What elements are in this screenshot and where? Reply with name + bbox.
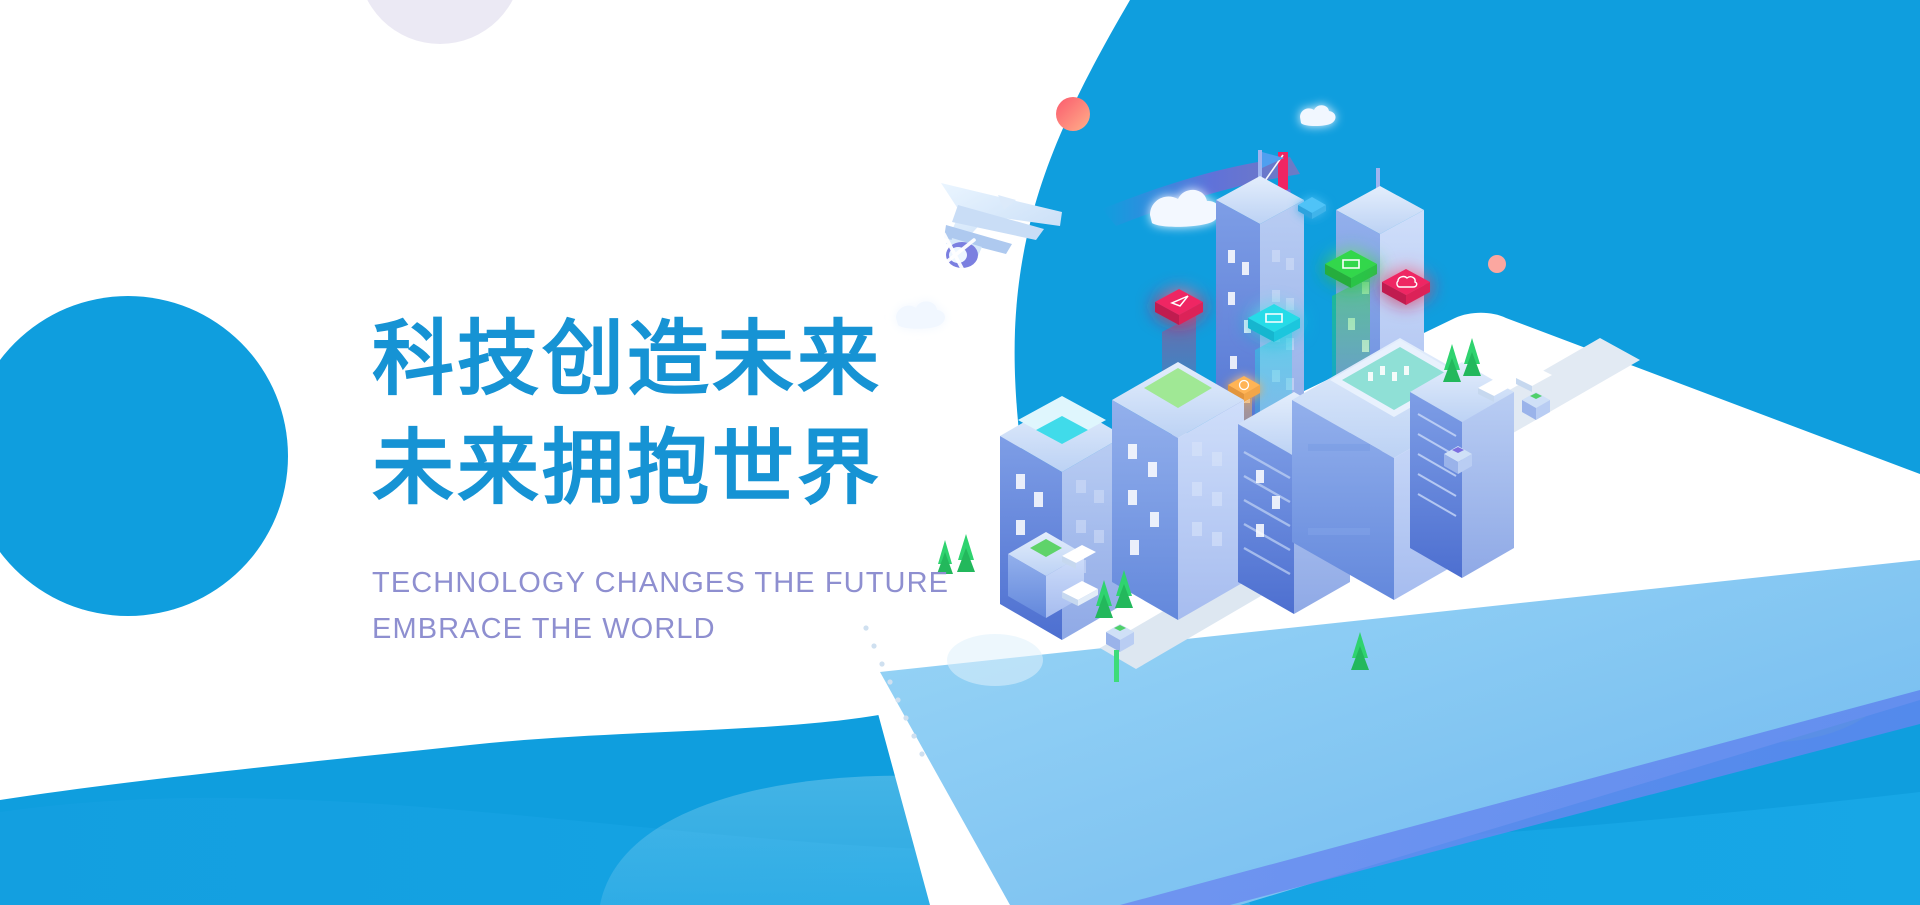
hero-copy: 科技创造未来 未来拥抱世界 TECHNOLOGY CHANGES THE FUT… <box>372 305 1052 653</box>
hero-banner: 科技创造未来 未来拥抱世界 TECHNOLOGY CHANGES THE FUT… <box>0 0 1920 905</box>
decor-blob-bottom <box>600 776 1250 905</box>
page-subtitle: TECHNOLOGY CHANGES THE FUTURE EMBRACE TH… <box>372 561 1052 653</box>
decor-ellipse-teal <box>1644 582 1900 742</box>
headline-line-1: 科技创造未来 <box>372 305 1052 414</box>
headline-line-2: 未来拥抱世界 <box>372 414 1052 523</box>
subheadline-line-1: TECHNOLOGY CHANGES THE FUTURE <box>372 561 1052 607</box>
page-title: 科技创造未来 未来拥抱世界 <box>372 305 1052 523</box>
subheadline-line-2: EMBRACE THE WORLD <box>372 607 1052 653</box>
